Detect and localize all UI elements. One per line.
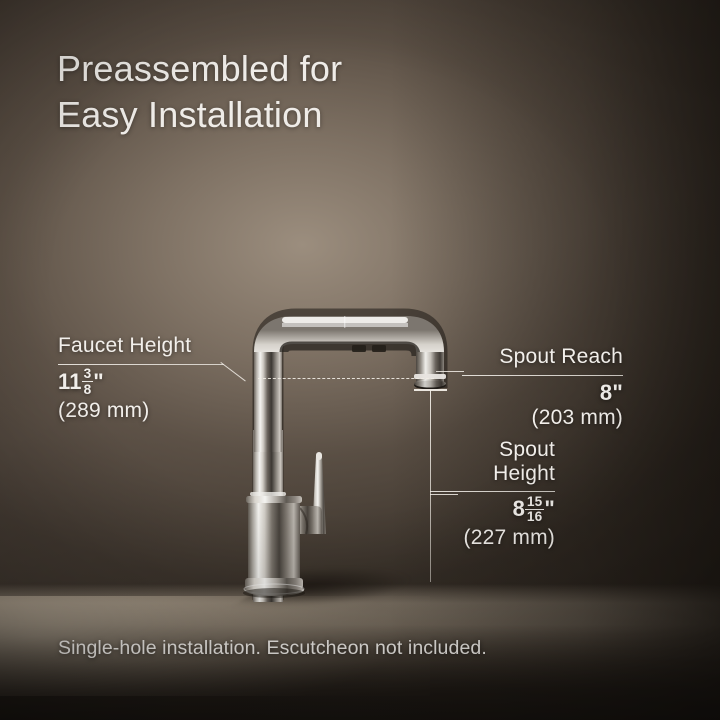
product-spec-image: Preassembled for Easy Installation Fauce… [0,0,720,720]
background-vignette [0,0,720,720]
